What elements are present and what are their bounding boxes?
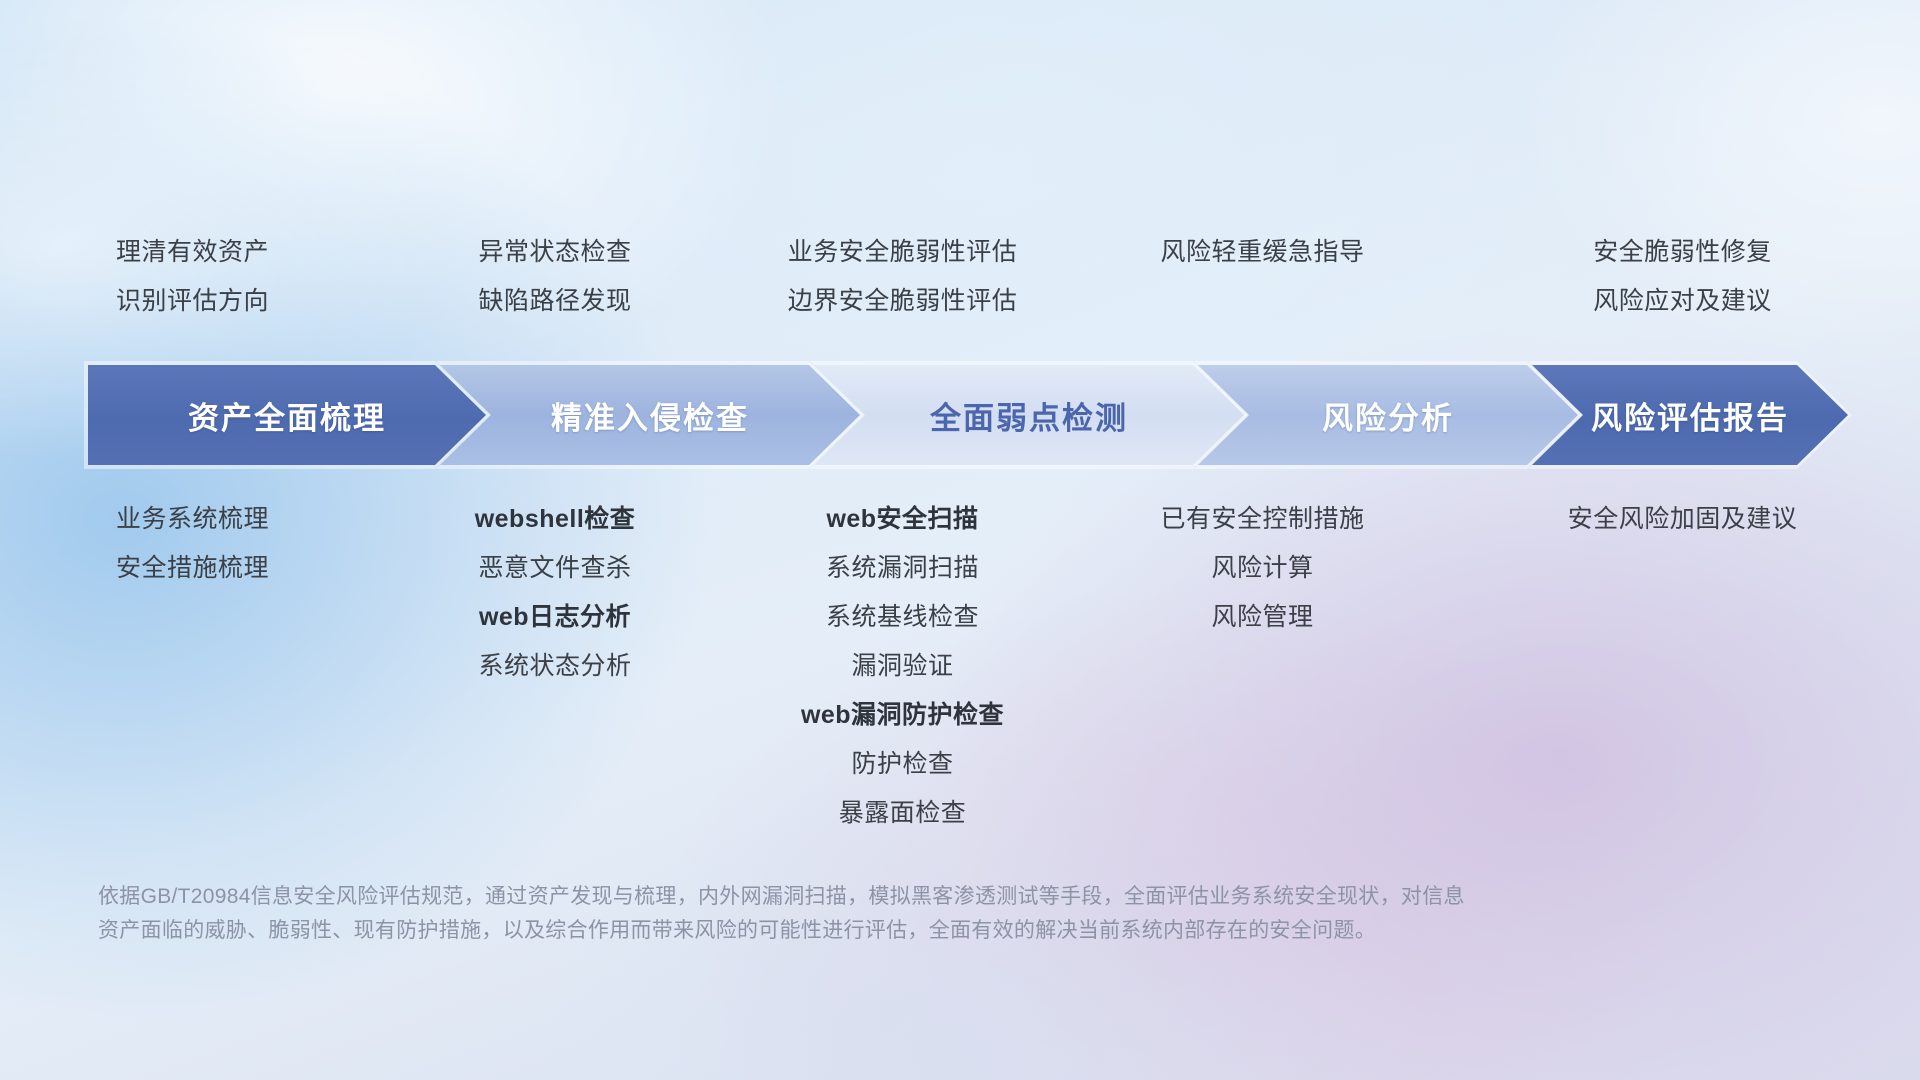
bottom-item: 业务系统梳理 bbox=[0, 495, 385, 544]
bottom-item: web安全扫描 bbox=[725, 495, 1080, 544]
top-note: 异常状态检查 bbox=[385, 228, 725, 277]
footer-description: 依据GB/T20984信息安全风险评估规范，通过资产发现与梳理，内外网漏洞扫描，… bbox=[98, 880, 1858, 948]
top-note: 业务安全脆弱性评估 bbox=[725, 228, 1080, 277]
bottom-item: 安全风险加固及建议 bbox=[1445, 495, 1920, 544]
bottom-item: 暴露面检查 bbox=[725, 789, 1080, 838]
chevron-stage-5[interactable]: 风险评估报告 bbox=[1532, 365, 1848, 465]
bottom-item: 风险计算 bbox=[1080, 544, 1445, 593]
top-note: 缺陷路径发现 bbox=[385, 277, 725, 326]
bottom-item: 风险管理 bbox=[1080, 593, 1445, 642]
footer-line-1: 依据GB/T20984信息安全风险评估规范，通过资产发现与梳理，内外网漏洞扫描，… bbox=[98, 880, 1858, 914]
top-note: 理清有效资产 bbox=[0, 228, 385, 277]
top-note: 边界安全脆弱性评估 bbox=[725, 277, 1080, 326]
bottom-item: 系统基线检查 bbox=[725, 593, 1080, 642]
top-note: 识别评估方向 bbox=[0, 277, 385, 326]
chevron-stage-2[interactable]: 精准入侵检查 bbox=[440, 365, 860, 465]
chevron-stage-3[interactable]: 全面弱点检测 bbox=[814, 365, 1244, 465]
top-notes-stage-2: 异常状态检查 缺陷路径发现 bbox=[385, 228, 725, 326]
bottom-items-stage-2: webshell检查 恶意文件查杀 web日志分析 系统状态分析 bbox=[385, 495, 725, 691]
top-notes-stage-1: 理清有效资产 识别评估方向 bbox=[0, 228, 385, 326]
top-notes-stage-5: 安全脆弱性修复 风险应对及建议 bbox=[1445, 228, 1920, 326]
top-notes-row: 理清有效资产 识别评估方向 异常状态检查 缺陷路径发现 业务安全脆弱性评估 边界… bbox=[0, 228, 1920, 326]
bottom-items-row: 业务系统梳理 安全措施梳理 webshell检查 恶意文件查杀 web日志分析 … bbox=[0, 495, 1920, 838]
bottom-items-stage-3: web安全扫描 系统漏洞扫描 系统基线检查 漏洞验证 web漏洞防护检查 防护检… bbox=[725, 495, 1080, 838]
top-note: 风险轻重缓急指导 bbox=[1080, 228, 1445, 277]
bottom-items-stage-5: 安全风险加固及建议 bbox=[1445, 495, 1920, 544]
top-note: 安全脆弱性修复 bbox=[1445, 228, 1920, 277]
top-notes-stage-3: 业务安全脆弱性评估 边界安全脆弱性评估 bbox=[725, 228, 1080, 326]
bottom-item: web日志分析 bbox=[385, 593, 725, 642]
bottom-item: 恶意文件查杀 bbox=[385, 544, 725, 593]
chevron-stage-1[interactable]: 资产全面梳理 bbox=[88, 365, 486, 465]
bottom-item: web漏洞防护检查 bbox=[725, 691, 1080, 740]
bottom-item: 已有安全控制措施 bbox=[1080, 495, 1445, 544]
bottom-item: webshell检查 bbox=[385, 495, 725, 544]
bottom-item: 系统状态分析 bbox=[385, 642, 725, 691]
bottom-item: 系统漏洞扫描 bbox=[725, 544, 1080, 593]
top-note: 风险应对及建议 bbox=[1445, 277, 1920, 326]
process-chevron-banner: 资产全面梳理 精准入侵检查 全面弱点检测 风险分析 风险评估报告 bbox=[88, 365, 1848, 465]
bottom-item: 防护检查 bbox=[725, 740, 1080, 789]
bottom-item: 漏洞验证 bbox=[725, 642, 1080, 691]
slide-canvas: 理清有效资产 识别评估方向 异常状态检查 缺陷路径发现 业务安全脆弱性评估 边界… bbox=[0, 0, 1920, 1080]
bottom-items-stage-4: 已有安全控制措施 风险计算 风险管理 bbox=[1080, 495, 1445, 642]
chevron-stage-4[interactable]: 风险分析 bbox=[1198, 365, 1578, 465]
bottom-items-stage-1: 业务系统梳理 安全措施梳理 bbox=[0, 495, 385, 593]
top-notes-stage-4: 风险轻重缓急指导 bbox=[1080, 228, 1445, 326]
bottom-item: 安全措施梳理 bbox=[0, 544, 385, 593]
footer-line-2: 资产面临的威胁、脆弱性、现有防护措施，以及综合作用而带来风险的可能性进行评估，全… bbox=[98, 914, 1858, 948]
